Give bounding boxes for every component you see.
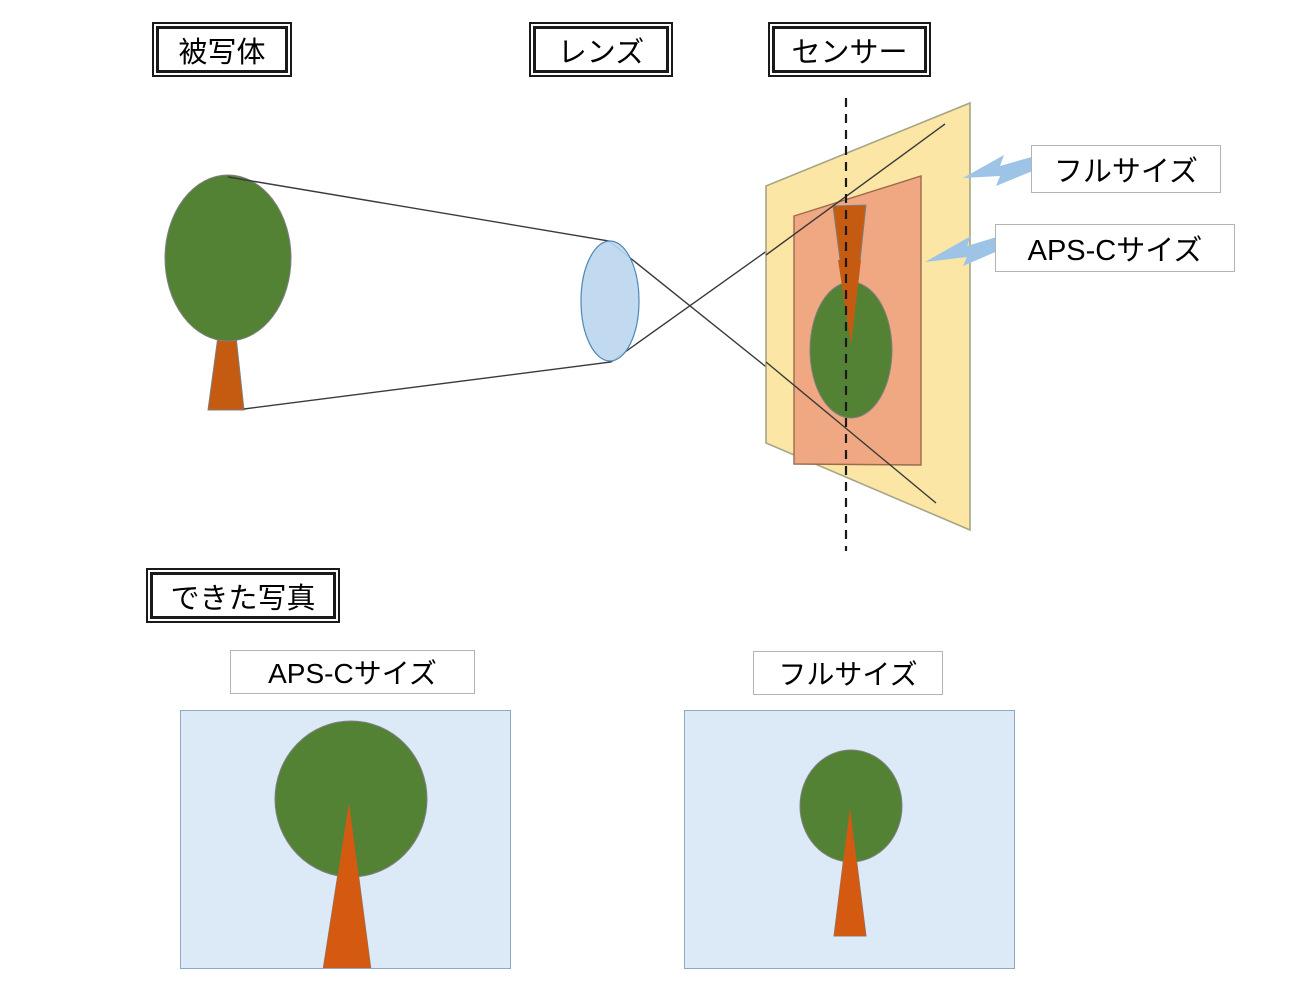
label-sensor-text: センサー [791, 29, 907, 71]
photo-fullsize-frame [684, 710, 1015, 969]
arrow-fullsize-icon [963, 155, 1035, 186]
callout-apsc-text: APS-Cサイズ [1028, 227, 1203, 269]
label-lens-text: レンズ [558, 29, 644, 71]
lens [581, 241, 639, 361]
photo-apsc-frame [180, 710, 511, 969]
subject-tree-canopy [165, 175, 291, 341]
callout-apsc-box: APS-Cサイズ [995, 224, 1235, 272]
photo-fullsize-caption-text: フルサイズ [778, 653, 917, 693]
photo-fullsize-image [685, 711, 1015, 969]
callout-fullsize-text: フルサイズ [1054, 148, 1198, 190]
subject-tree [165, 175, 291, 410]
callout-fullsize-box: フルサイズ [1031, 145, 1221, 193]
label-lens-box: レンズ [533, 26, 669, 73]
lens-element [581, 241, 639, 361]
sensor-plane [766, 98, 970, 551]
photo-fullsize-caption-box: フルサイズ [753, 651, 943, 695]
label-subject-text: 被写体 [178, 29, 265, 71]
label-subject-box: 被写体 [156, 26, 288, 73]
label-result-heading-box: できた写真 [150, 572, 336, 619]
photo-apsc-image [181, 711, 511, 969]
photo-apsc-caption-text: APS-Cサイズ [268, 652, 437, 692]
label-sensor-box: センサー [772, 26, 927, 73]
photo-apsc-caption-box: APS-Cサイズ [230, 650, 475, 694]
label-result-heading-text: できた写真 [170, 575, 315, 617]
